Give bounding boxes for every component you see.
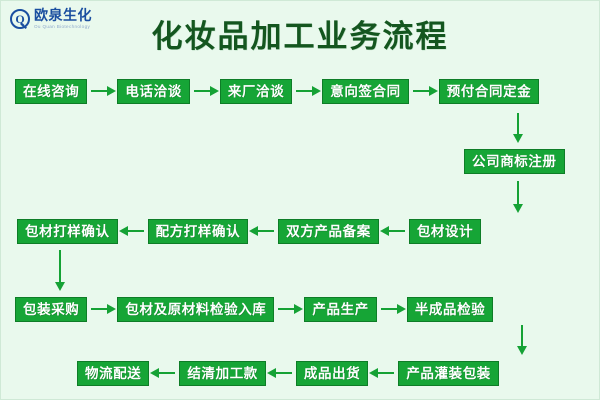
flow-node[interactable]: 配方打样确认 xyxy=(148,219,249,244)
arrow-down-icon xyxy=(515,325,529,355)
flow-node[interactable]: 双方产品备案 xyxy=(278,219,379,244)
arrow-right-icon xyxy=(409,84,439,98)
arrow-right-icon xyxy=(87,302,117,316)
flow-node[interactable]: 产品灌装包装 xyxy=(398,361,499,386)
page-title: 化妆品加工业务流程 xyxy=(1,11,599,56)
arrow-left-icon xyxy=(266,366,296,380)
flow-node[interactable]: 产品生产 xyxy=(304,297,376,322)
flow-node[interactable]: 成品出货 xyxy=(296,361,368,386)
arrow-right-icon xyxy=(292,84,322,98)
flow-node[interactable]: 包材设计 xyxy=(409,219,481,244)
flow-node[interactable]: 预付合同定金 xyxy=(439,79,540,104)
flow-node[interactable]: 物流配送 xyxy=(77,361,149,386)
flow-node[interactable]: 公司商标注册 xyxy=(464,149,565,174)
arrow-left-icon xyxy=(118,224,148,238)
arrow-right-icon xyxy=(87,84,117,98)
flowchart-page: Q 欧泉生化 Ou Quan Biotechnology 化妆品加工业务流程 在… xyxy=(0,0,600,400)
flow-node[interactable]: 包装采购 xyxy=(15,297,87,322)
flow-node[interactable]: 半成品检验 xyxy=(407,297,494,322)
flow-node[interactable]: 意向签合同 xyxy=(322,79,409,104)
flow-row-2: 公司商标注册 xyxy=(464,147,565,175)
flow-node[interactable]: 包材及原材料检验入库 xyxy=(117,297,274,322)
flow-node[interactable]: 电话洽谈 xyxy=(117,79,189,104)
arrow-left-icon xyxy=(379,224,409,238)
flow-row-4: 包装采购 包材及原材料检验入库 产品生产 半成品检验 xyxy=(15,295,493,323)
arrow-right-icon xyxy=(274,302,304,316)
flow-row-3: 包材打样确认 配方打样确认 双方产品备案 包材设计 xyxy=(17,217,481,245)
arrow-right-icon xyxy=(190,84,220,98)
flow-node[interactable]: 来厂洽谈 xyxy=(220,79,292,104)
flow-row-1: 在线咨询 电话洽谈 来厂洽谈 意向签合同 预付合同定金 xyxy=(15,77,539,105)
arrow-down-icon xyxy=(511,181,525,213)
flow-row-5: 物流配送 结清加工款 成品出货 产品灌装包装 xyxy=(77,359,499,387)
flow-node[interactable]: 在线咨询 xyxy=(15,79,87,104)
arrow-down-icon xyxy=(511,113,525,143)
arrow-left-icon xyxy=(248,224,278,238)
flow-node[interactable]: 结清加工款 xyxy=(179,361,266,386)
flow-node[interactable]: 包材打样确认 xyxy=(17,219,118,244)
arrow-left-icon xyxy=(149,366,179,380)
arrow-left-icon xyxy=(368,366,398,380)
arrow-right-icon xyxy=(377,302,407,316)
arrow-down-icon xyxy=(53,250,67,291)
